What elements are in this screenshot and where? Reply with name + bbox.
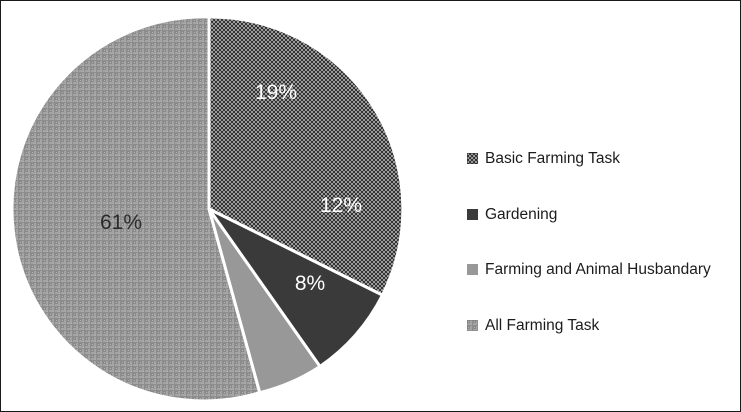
pie-chart-area: 19% 12% 8% 61% bbox=[1, 1, 431, 412]
legend-item-all-farming-task[interactable]: All Farming Task bbox=[467, 298, 737, 354]
pie-chart-svg bbox=[1, 1, 431, 412]
legend-item-label: Farming and Animal Husbandary bbox=[485, 262, 711, 278]
legend-item-gardening[interactable]: Gardening bbox=[467, 187, 737, 243]
chart-legend: Basic Farming Task Gardening Farming and… bbox=[467, 131, 737, 353]
legend-item-farming-and-animal-husbandary[interactable]: Farming and Animal Husbandary bbox=[467, 242, 737, 298]
legend-marker-dotted-dark-icon bbox=[467, 153, 478, 164]
pie-slice-value-label: 61% bbox=[100, 211, 142, 235]
pie-slice-value-label: 8% bbox=[295, 272, 325, 296]
pie-slice-value-label: 12% bbox=[320, 194, 362, 218]
legend-marker-solid-dark-icon bbox=[467, 209, 478, 220]
legend-marker-weave-gray-icon bbox=[467, 320, 478, 331]
legend-item-label: Basic Farming Task bbox=[485, 151, 620, 167]
legend-item-label: Gardening bbox=[485, 207, 557, 223]
legend-marker-solid-gray-icon bbox=[467, 264, 478, 275]
pie-chart-figure: 19% 12% 8% 61% Basic Farming Task Garden… bbox=[0, 0, 741, 412]
pie-slice-value-label: 19% bbox=[255, 81, 297, 105]
legend-item-label: All Farming Task bbox=[485, 318, 599, 334]
legend-item-basic-farming-task[interactable]: Basic Farming Task bbox=[467, 131, 737, 187]
